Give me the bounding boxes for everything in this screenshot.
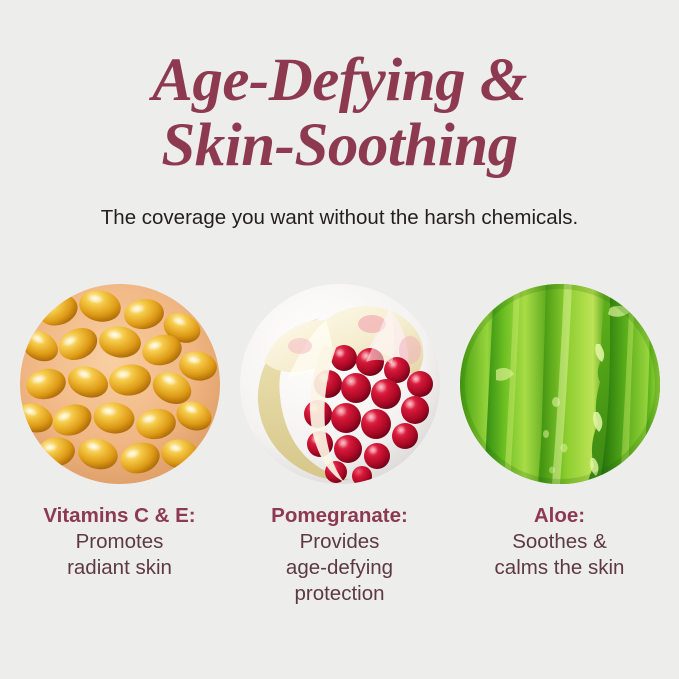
ingredient-desc-line: protection	[271, 581, 408, 607]
ingredient-desc-line: radiant skin	[43, 555, 195, 581]
ingredient-desc-line: age-defying	[271, 555, 408, 581]
aloe-vera-leaves-photo	[460, 284, 660, 484]
page-subtitle: The coverage you want without the harsh …	[0, 206, 679, 230]
ingredient-list: Vitamins C & E: Promotes radiant skin	[0, 284, 679, 607]
ingredient-desc-line: Provides	[271, 529, 408, 555]
ingredient-item-pomegranate: Pomegranate: Provides age-defying protec…	[239, 284, 440, 607]
headline-line-1: Age-Defying &	[0, 48, 679, 113]
ingredient-caption: Pomegranate: Provides age-defying protec…	[271, 503, 408, 607]
headline-line-2: Skin-Soothing	[0, 113, 679, 178]
ingredient-caption: Aloe: Soothes & calms the skin	[495, 503, 625, 581]
vitamin-softgel-capsules-photo	[20, 284, 220, 484]
page-title: Age-Defying & Skin-Soothing	[0, 48, 679, 178]
ingredient-desc-line: Soothes &	[495, 529, 625, 555]
ingredient-caption: Vitamins C & E: Promotes radiant skin	[43, 503, 195, 581]
ingredient-name: Vitamins C & E:	[43, 503, 195, 529]
ingredient-item-vitamins: Vitamins C & E: Promotes radiant skin	[19, 284, 220, 607]
ingredient-name: Pomegranate:	[271, 503, 408, 529]
ingredient-name: Aloe:	[495, 503, 625, 529]
ingredient-desc-line: Promotes	[43, 529, 195, 555]
ingredient-item-aloe: Aloe: Soothes & calms the skin	[459, 284, 660, 607]
ingredient-desc-line: calms the skin	[495, 555, 625, 581]
pomegranate-photo	[240, 284, 440, 484]
